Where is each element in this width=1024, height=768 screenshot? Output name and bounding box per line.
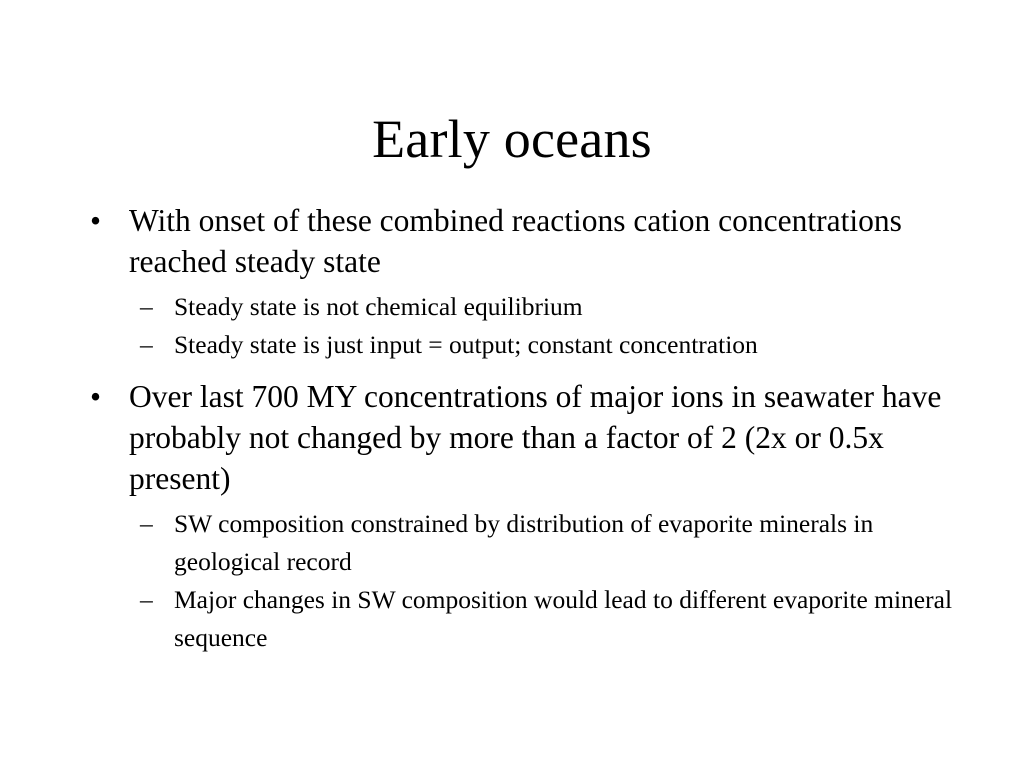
bullet-item-level2: – Steady state is just input = output; c…: [84, 326, 964, 364]
bullet-text: Steady state is just input = output; con…: [174, 326, 964, 364]
bullet-item-level2: – SW composition constrained by distribu…: [84, 505, 964, 581]
presentation-slide: Early oceans • With onset of these combi…: [0, 0, 1024, 768]
bullet-text: Over last 700 MY concentrations of major…: [129, 376, 964, 499]
bullet-text: SW composition constrained by distributi…: [174, 505, 964, 581]
bullet-item-level2: – Steady state is not chemical equilibri…: [84, 288, 964, 326]
bullet-dash-icon: –: [140, 326, 153, 364]
bullet-dash-icon: –: [140, 288, 153, 326]
bullet-dot-icon: •: [90, 200, 101, 241]
bullet-text: With onset of these combined reactions c…: [129, 200, 964, 282]
bullet-item-level2: – Major changes in SW composition would …: [84, 581, 964, 657]
spacer: [84, 364, 964, 376]
page-title: Early oceans: [0, 108, 1024, 170]
bullet-dash-icon: –: [140, 505, 153, 543]
bullet-item-level1: • Over last 700 MY concentrations of maj…: [84, 376, 964, 499]
bullet-dot-icon: •: [90, 376, 101, 417]
bullet-text: Major changes in SW composition would le…: [174, 581, 964, 657]
bullet-text: Steady state is not chemical equilibrium: [174, 288, 964, 326]
bullet-dash-icon: –: [140, 581, 153, 619]
bullet-item-level1: • With onset of these combined reactions…: [84, 200, 964, 282]
slide-body-content: • With onset of these combined reactions…: [84, 200, 964, 657]
